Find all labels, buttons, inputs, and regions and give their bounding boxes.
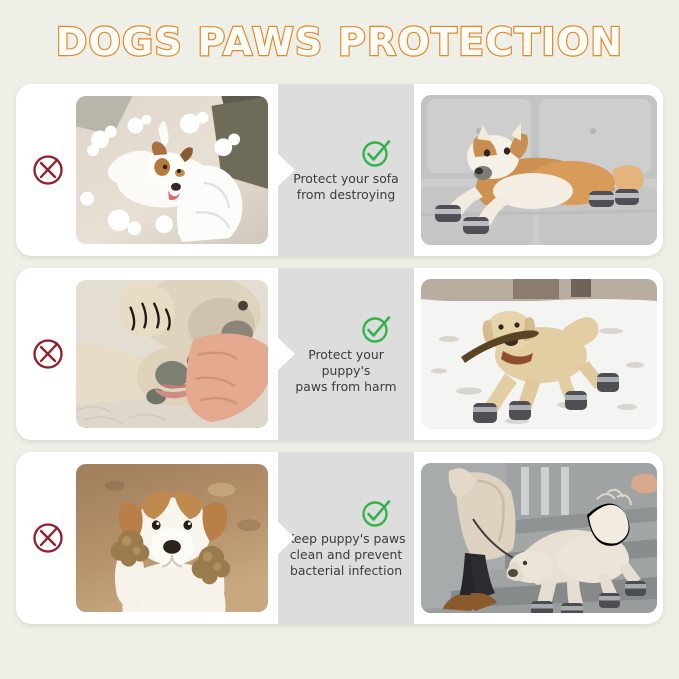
benefit-message: Keep puppy's paws clean and prevent bact… — [278, 452, 414, 624]
injured-paw-photo — [76, 280, 268, 428]
benefit-text: Keep puppy's paws clean and prevent bact… — [280, 531, 411, 579]
solution-side — [414, 268, 663, 440]
benefit-panel: Keep puppy's paws clean and prevent bact… — [16, 452, 663, 624]
chevron-right-icon — [277, 521, 297, 555]
problem-side — [16, 84, 278, 256]
benefit-panel-list: Protect your sofa from destroying — [0, 84, 679, 624]
benefit-text-line: bacterial infection — [286, 563, 405, 579]
dog-destroying-pillow-photo — [76, 96, 268, 244]
check-icon — [360, 313, 392, 345]
chevron-right-icon — [277, 153, 297, 187]
benefit-panel: Protect your sofa from destroying — [16, 84, 663, 256]
chevron-right-icon — [277, 337, 297, 371]
benefit-text: Protect your puppy's paws from harm — [278, 347, 414, 395]
benefit-text-line: Keep puppy's paws — [286, 531, 405, 547]
header: DOGS PAWS PROTECTION — [0, 0, 679, 84]
benefit-text-line: Protect your sofa — [293, 171, 399, 187]
benefit-text-line: paws from harm — [284, 379, 408, 395]
poodle-on-stairs-photo — [421, 463, 657, 613]
benefit-text: Protect your sofa from destroying — [287, 171, 405, 203]
problem-side — [16, 452, 278, 624]
problem-side — [16, 268, 278, 440]
muddy-paws-photo — [76, 464, 268, 612]
check-icon — [360, 137, 392, 169]
benefit-text-line: Protect your puppy's — [284, 347, 408, 379]
cross-icon — [28, 334, 68, 374]
cross-icon — [28, 518, 68, 558]
cross-icon — [28, 150, 68, 190]
solution-side — [414, 84, 663, 256]
page-title: DOGS PAWS PROTECTION — [56, 20, 624, 64]
benefit-text-line: from destroying — [293, 187, 399, 203]
solution-side — [414, 452, 663, 624]
benefit-panel: Protect your puppy's paws from harm — [16, 268, 663, 440]
benefit-message: Protect your puppy's paws from harm — [278, 268, 414, 440]
check-icon — [360, 497, 392, 529]
shiba-inu-on-sofa-photo — [421, 95, 657, 245]
labrador-in-snow-photo — [421, 279, 657, 429]
benefit-message: Protect your sofa from destroying — [278, 84, 414, 256]
benefit-text-line: clean and prevent — [286, 547, 405, 563]
